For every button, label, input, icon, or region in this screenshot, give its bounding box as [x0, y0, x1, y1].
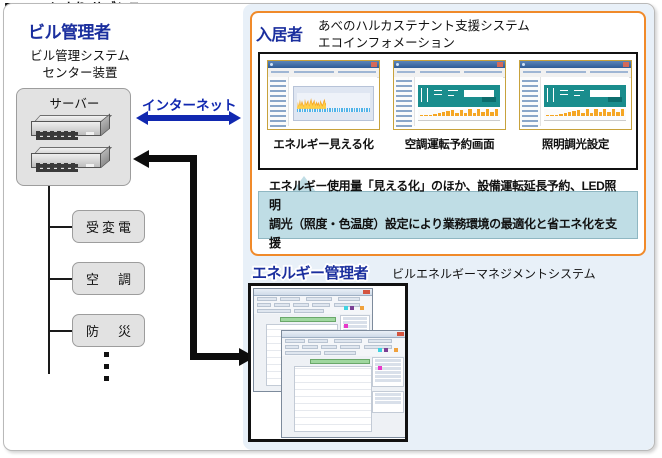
data-arrow-head-left-icon [133, 150, 149, 168]
internet-double-arrow-icon [136, 111, 241, 125]
tenant-screen-1-caption: エネルギー見える化 [267, 136, 380, 152]
subsystem-ellipsis [104, 352, 110, 388]
bus-stub-2 [48, 278, 74, 280]
hvac-schedule-chart [418, 109, 500, 121]
bus-stub-1 [48, 226, 74, 228]
data-arrow-segment-bottom [190, 353, 240, 360]
bems-screenshot-frame [248, 283, 408, 442]
server-group-label: サーバー [17, 93, 132, 112]
subsystem-box-juhenden: 受変電 [72, 210, 145, 243]
tenant-callout: エネルギー使用量「見える化」のほか、設備運転延長予約、LED照明 調光（照度・色… [258, 191, 638, 239]
bems-title: ビルエネルギーマネジメントシステム [392, 265, 596, 282]
tenant-screen-2-caption: 空調運転予約画面 [393, 136, 506, 152]
tenant-screen-3-thumbnail [519, 60, 632, 130]
tenant-screen-3[interactable]: 照明調光設定 [519, 60, 632, 152]
tenant-system-title: あべのハルカステナント支援システム エコインフォメーション [318, 18, 530, 52]
server-unit-1-icon [31, 115, 111, 137]
data-arrow-segment-vertical [190, 155, 197, 360]
tenant-callout-text: エネルギー使用量「見える化」のほか、設備運転延長予約、LED照明 調光（照度・色… [259, 177, 637, 253]
tenant-screen-2-thumbnail [393, 60, 506, 130]
bems-front-stacked-bars [297, 371, 369, 429]
subsystem-box-bousai: 防 災 [72, 314, 145, 347]
building-manager-subtitle: ビル管理システム センター装置 [25, 48, 135, 82]
tenant-screen-1-thumbnail [267, 60, 380, 130]
energy-peak-area [297, 97, 326, 109]
subsystem-box-kuchou: 空 調 [72, 262, 145, 295]
bems-front-legend-swatches [377, 340, 403, 376]
lighting-control-panel [544, 85, 626, 107]
bems-back-legend-swatches [343, 298, 369, 334]
server-unit-2-icon [31, 147, 111, 169]
badge-energy-manager: エネルギー管理者 [252, 262, 368, 283]
tenant-screenshot-strip: エネルギー見える化 [258, 52, 638, 170]
hvac-control-panel [418, 85, 500, 107]
energy-visualization-chart [293, 86, 374, 121]
badge-tenant: 入居者 [256, 21, 303, 45]
server-group: サーバー [16, 88, 131, 186]
bems-window-front[interactable] [281, 330, 407, 438]
tenant-screen-2[interactable]: 空調運転予約画面 [393, 60, 506, 152]
badge-building-manager: ビル管理者 [28, 18, 111, 43]
diagram-canvas: ビル管理者 ビル管理システム センター装置 サーバー 受変電 空 調 防 災 B… [0, 0, 662, 458]
tenant-screen-3-caption: 照明調光設定 [519, 136, 632, 152]
tenant-screen-1[interactable]: エネルギー見える化 [267, 60, 380, 152]
bacnet-bus-line [48, 186, 50, 374]
bus-stub-3 [48, 330, 74, 332]
lighting-dimming-chart [544, 109, 626, 121]
hvac-bars [420, 109, 498, 116]
lighting-bars [546, 109, 624, 116]
